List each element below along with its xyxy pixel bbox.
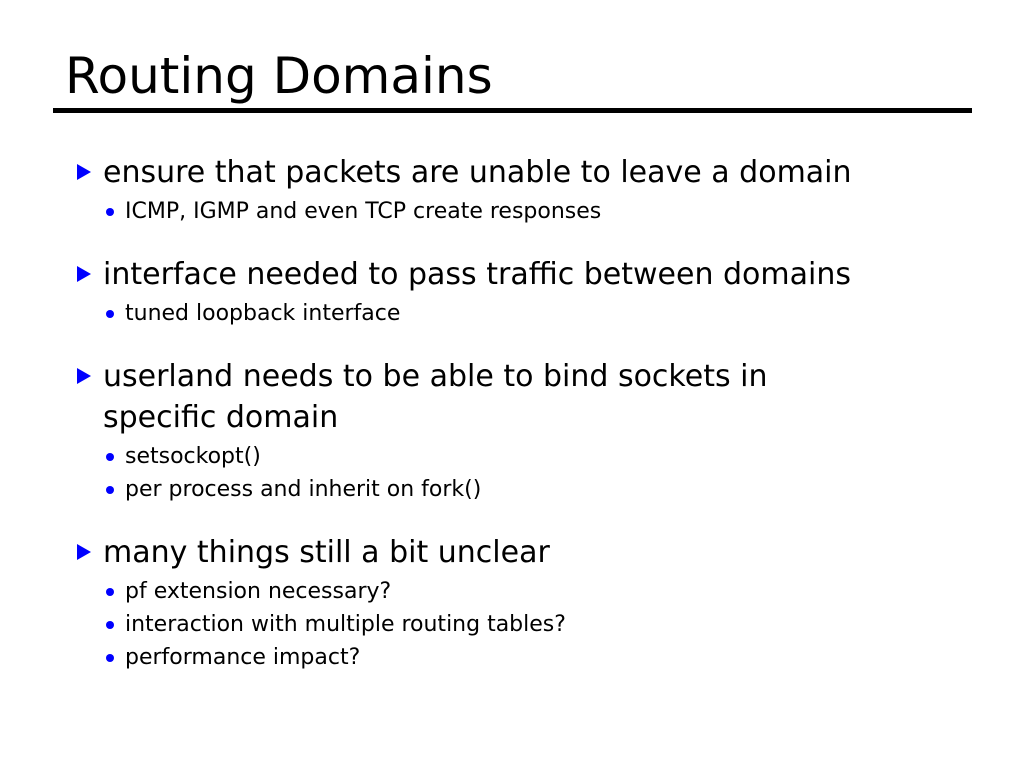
title-underline-rule xyxy=(53,108,972,113)
round-dot-bullet-icon xyxy=(106,453,114,461)
bullet-level2-list: tuned loopback interface xyxy=(62,297,962,330)
round-dot-bullet-icon xyxy=(106,486,114,494)
round-dot-bullet-icon xyxy=(106,208,114,216)
bullet-level2-item: ICMP, IGMP and even TCP create responses xyxy=(62,195,962,228)
bullet-level2-item: pf extension necessary? xyxy=(62,575,962,608)
bullet-group: userland needs to be able to bind socket… xyxy=(62,356,962,506)
triangle-right-bullet-icon xyxy=(77,266,91,282)
bullet-level2-item: setsockopt() xyxy=(62,440,962,473)
bullet-level2-list: pf extension necessary? interaction with… xyxy=(62,575,962,674)
bullet-level1-item: many things still a bit unclear xyxy=(62,532,962,573)
bullet-level1-label-line1: userland needs to be able to bind socket… xyxy=(103,356,962,397)
bullet-level2-label: ICMP, IGMP and even TCP create responses xyxy=(125,195,962,228)
bullet-level2-label: performance impact? xyxy=(125,641,962,674)
bullet-level1-label-line2: specific domain xyxy=(103,397,962,438)
slide-title-block: Routing Domains xyxy=(53,48,973,113)
bullet-level2-label: per process and inherit on fork() xyxy=(125,473,962,506)
bullet-level2-label: pf extension necessary? xyxy=(125,575,962,608)
triangle-right-bullet-icon xyxy=(77,544,91,560)
bullet-level2-list: ICMP, IGMP and even TCP create responses xyxy=(62,195,962,228)
round-dot-bullet-icon xyxy=(106,654,114,662)
bullet-group: many things still a bit unclear pf exten… xyxy=(62,532,962,674)
bullet-level1-item: ensure that packets are unable to leave … xyxy=(62,152,962,193)
round-dot-bullet-icon xyxy=(106,588,114,596)
bullet-level1-item: interface needed to pass traffic between… xyxy=(62,254,962,295)
bullet-level2-list: setsockopt() per process and inherit on … xyxy=(62,440,962,506)
bullet-level2-label: setsockopt() xyxy=(125,440,962,473)
slide-body: ensure that packets are unable to leave … xyxy=(62,152,962,674)
bullet-group: interface needed to pass traffic between… xyxy=(62,254,962,330)
round-dot-bullet-icon xyxy=(106,621,114,629)
presentation-slide: Routing Domains ensure that packets are … xyxy=(0,0,1024,768)
bullet-level2-label: interaction with multiple routing tables… xyxy=(125,608,962,641)
bullet-level2-item: interaction with multiple routing tables… xyxy=(62,608,962,641)
triangle-right-bullet-icon xyxy=(77,164,91,180)
bullet-level2-item: tuned loopback interface xyxy=(62,297,962,330)
triangle-right-bullet-icon xyxy=(77,368,91,384)
bullet-level1-label: interface needed to pass traffic between… xyxy=(103,254,962,295)
bullet-level2-item: performance impact? xyxy=(62,641,962,674)
bullet-level2-item: per process and inherit on fork() xyxy=(62,473,962,506)
bullet-level1-label: many things still a bit unclear xyxy=(103,532,962,573)
page-title: Routing Domains xyxy=(53,48,973,108)
round-dot-bullet-icon xyxy=(106,310,114,318)
bullet-level2-label: tuned loopback interface xyxy=(125,297,962,330)
bullet-group: ensure that packets are unable to leave … xyxy=(62,152,962,228)
bullet-level1-item: userland needs to be able to bind socket… xyxy=(62,356,962,438)
bullet-level1-label: ensure that packets are unable to leave … xyxy=(103,152,962,193)
